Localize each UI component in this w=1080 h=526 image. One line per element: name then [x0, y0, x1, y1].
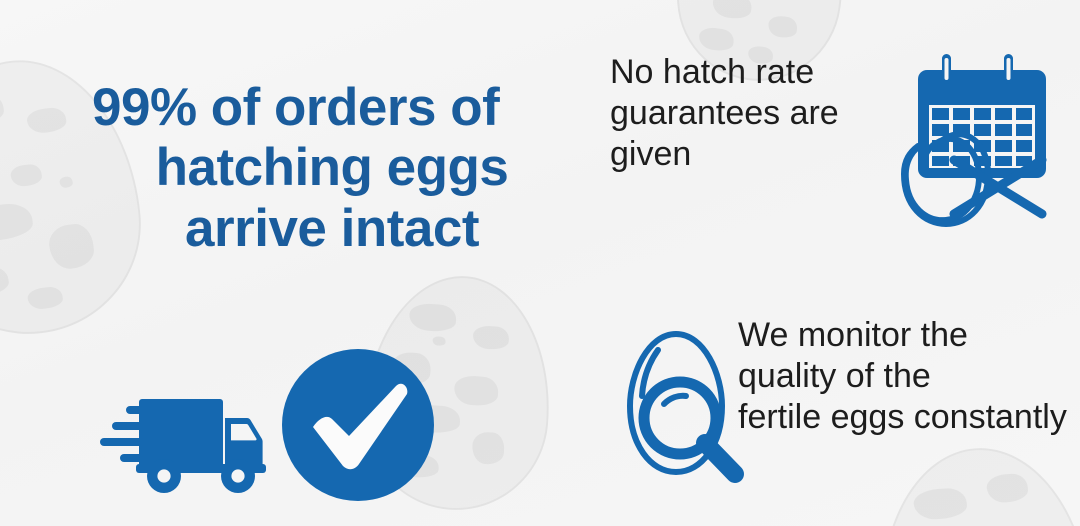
no-hatch-line-2: guarantees are — [610, 93, 910, 134]
no-hatch-line-1: No hatch rate — [610, 52, 910, 93]
monitor-line-1: We monitor the — [738, 315, 1080, 356]
page-headline: 99% of orders of hatching eggs arrive in… — [92, 78, 572, 259]
quality-monitoring-text: We monitor the quality of the fertile eg… — [738, 315, 1080, 438]
headline-line-1: 99% of orders of — [92, 78, 572, 138]
egg-magnifying-glass-icon — [598, 322, 766, 496]
delivery-truck-icon — [98, 385, 273, 495]
calendar-egg-crossed-out-icon — [876, 48, 1072, 244]
monitor-line-3: fertile eggs constantly — [738, 397, 1080, 438]
headline-line-2: hatching eggs — [92, 138, 572, 198]
no-hatch-line-3: given — [610, 134, 910, 175]
check-circle-icon — [278, 345, 438, 505]
infographic-slide: 99% of orders of hatching eggs arrive in… — [0, 0, 1080, 526]
monitor-line-2: quality of the — [738, 356, 1080, 397]
egg-watermark-bottom-right — [871, 441, 1080, 526]
headline-line-3: arrive intact — [92, 199, 572, 259]
no-hatch-guarantee-text: No hatch rate guarantees are given — [610, 52, 910, 175]
